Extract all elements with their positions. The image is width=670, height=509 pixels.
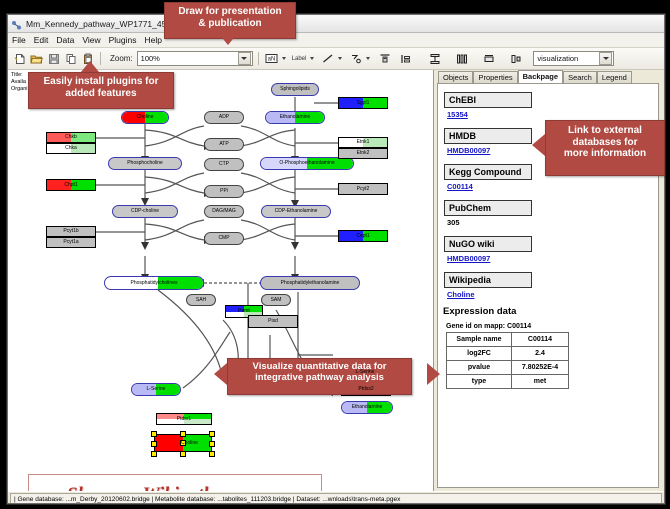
db-link-wikipedia[interactable]: Choline [447,290,658,299]
expression-data-heading: Expression data [443,306,658,317]
visualization-combo[interactable]: visualization [533,51,614,66]
db-header-kegg-compound: Kegg Compound [444,164,532,180]
menu-item-help[interactable]: Help [145,35,162,45]
metabolite-ethanolamine[interactable]: Ethanolamine [265,111,325,124]
label-dropdown-icon[interactable] [310,57,314,60]
db-header-wikipedia: Wikipedia [444,272,532,288]
metabolite-ctp[interactable]: CTP [204,158,244,171]
chevron-down-icon[interactable] [238,52,251,65]
new-file-icon[interactable] [12,51,27,66]
menu-item-data[interactable]: Data [56,35,74,45]
tab-search[interactable]: Search [563,71,597,83]
toolbar: Zoom: 100% aN Label [8,48,664,70]
table-row: Sample name C00114 [447,333,569,347]
tab-backpage[interactable]: Backpage [518,70,563,83]
metabolite-cdp-ethanolamine[interactable]: CDP-Ethanolamine [261,205,331,218]
gene-pcyt1a[interactable]: Pcyt1a [46,237,96,248]
expr-value-type: met [512,375,569,389]
db-header-chebi: ChEBI [444,92,532,108]
side-tabs: Objects Properties Backpage Search Legen… [434,70,664,83]
svg-text:aN: aN [267,57,275,63]
distribute-icon[interactable] [454,51,469,66]
metabolite-cdp-choline[interactable]: CDP-choline [112,205,178,218]
datanode-dropdown-icon[interactable] [282,57,286,60]
metabolite-dagmag[interactable]: DAG/MAG [204,205,244,218]
menu-bar: File Edit Data View Plugins Help [8,33,664,48]
line-dropdown-icon[interactable] [338,57,342,60]
tab-legend[interactable]: Legend [597,71,632,83]
expression-table: Sample name C00114 log2FC 2.4 pvalue 7.8… [446,332,569,389]
pathway-canvas[interactable]: Title: Availa Organi [8,70,434,491]
table-row: type met [447,375,569,389]
gene-pcyt1b[interactable]: Pcyt1b [46,226,96,237]
share-banner-text: Share on Wikipathways.org [67,484,283,491]
expr-value-sample-name: C00114 [512,333,569,347]
gene-chka[interactable]: Chka [46,143,96,154]
title-bar: Mm_Kennedy_pathway_WP1771_45176.gpml [8,15,664,33]
toolbar-separator-2 [258,52,259,65]
metabolite-sah[interactable]: SAH [186,294,216,306]
tab-objects[interactable]: Objects [438,71,473,83]
db-link-chebi[interactable]: 15354 [447,110,658,119]
gene-pisd[interactable]: Pisd [248,315,298,328]
visualization-chevron-icon[interactable] [599,52,612,65]
metabolite-sam[interactable]: SAM [261,294,291,306]
metabolite-adp[interactable]: ADP [204,111,244,124]
zoom-combo[interactable]: 100% [137,51,253,66]
gene-etnk1[interactable]: Etnk1 [338,137,388,148]
metabolite-choline-top[interactable]: Choline [121,111,169,124]
label-tool-text: Label [292,56,307,62]
copy-icon[interactable] [63,51,78,66]
menu-item-view[interactable]: View [82,35,100,45]
metabolite-atp[interactable]: ATP [204,138,244,151]
gene-pcyt2[interactable]: Pcyt2 [338,183,388,195]
callout-visualize-arrow-right-icon [427,363,440,385]
metabolite-cmp[interactable]: CMP [204,232,244,245]
open-folder-icon[interactable] [29,51,44,66]
align-left-icon[interactable] [398,51,413,66]
table-row: pvalue 7.80252E-4 [447,361,569,375]
metabolite-ppi[interactable]: PPi [204,185,244,198]
metabolite-l-serine-left[interactable]: L-Serine [131,383,181,396]
toolbar-separator [100,52,101,65]
align-top-icon[interactable] [377,51,392,66]
tab-properties[interactable]: Properties [473,71,517,83]
metabolite-phosphatidylethanolamine[interactable]: Phosphatidylethanolamine [260,276,360,290]
metabolite-phosphatidylcholines[interactable]: Phosphatidylcholines [104,276,204,290]
interaction-dropdown-icon[interactable] [366,57,370,60]
gene-chpt1[interactable]: Chpt1 [46,179,96,191]
line-icon[interactable] [320,51,335,66]
gene-chkb[interactable]: Chkb [46,132,96,143]
callout-install-plugins: Easily install plugins for added feature… [28,72,174,109]
callout-links-arrow-icon [532,134,545,156]
expr-key-log2fc: log2FC [447,347,512,361]
metabolite-sphingolipids[interactable]: Sphingolipids [271,83,319,96]
expr-key-pvalue: pvalue [447,361,512,375]
expr-value-pvalue: 7.80252E-4 [512,361,569,375]
expr-key-sample-name: Sample name [447,333,512,347]
db-value-pubchem: 305 [447,218,658,227]
pathvisio-app-icon [11,18,22,29]
status-bar: | Gene database: ...m_Derby_20120602.bri… [8,491,664,504]
db-header-nugo-wiki: NuGO wiki [444,236,532,252]
interaction-icon[interactable] [348,51,363,66]
gene-etnk2[interactable]: Etnk2 [338,148,388,159]
gene-cept1[interactable]: Cept1 [338,230,388,242]
menu-item-plugins[interactable]: Plugins [109,35,137,45]
status-text: | Gene database: ...m_Derby_20120602.bri… [14,496,400,503]
stack-vertical-icon[interactable] [427,51,442,66]
metabolite-phosphocholine[interactable]: Phosphocholine [108,157,182,170]
share-banner: Share on Wikipathways.org [28,474,322,491]
menu-item-edit[interactable]: Edit [34,35,49,45]
expr-key-type: type [447,375,512,389]
gene-id-on-mapp: Gene id on mapp: C00114 [446,323,658,330]
save-icon[interactable] [46,51,61,66]
gene-sgpl1[interactable]: Sgpl1 [338,97,388,109]
callout-visualize-arrow-icon [214,363,227,385]
zoom-label: Zoom: [110,54,133,63]
expr-value-log2fc: 2.4 [512,347,569,361]
menu-item-file[interactable]: File [12,35,26,45]
visualization-value: visualization [537,54,578,63]
status-bar-inner: | Gene database: ...m_Derby_20120602.bri… [10,493,662,505]
gene-ptdsr1[interactable]: Ptdsr1 [156,413,212,425]
table-row: log2FC 2.4 [447,347,569,361]
db-link-nugo-wiki[interactable]: HMDB00097 [447,254,658,263]
group-icon[interactable] [481,51,496,66]
callout-external-links: Link to external databases for more info… [545,120,665,176]
db-link-kegg-compound[interactable]: C00114 [447,182,658,191]
callout-plugins-arrow-icon [81,61,99,72]
ungroup-icon[interactable] [508,51,523,66]
db-header-pubchem: PubChem [444,200,532,216]
zoom-value: 100% [141,54,160,63]
metabolite-ethanolamine-bottom[interactable]: Ethanolamine [341,401,393,414]
datanode-icon[interactable]: aN [264,51,279,66]
callout-draw-arrow-icon [219,34,237,45]
db-header-hmdb: HMDB [444,128,532,144]
callout-visualize-data: Visualize quantitative data for integrat… [227,358,412,395]
